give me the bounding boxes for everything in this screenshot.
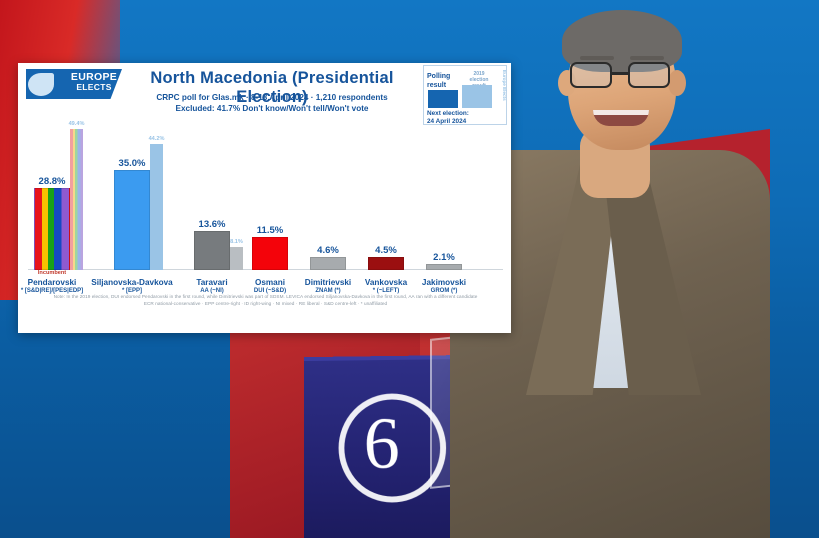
poll-infographic-card: EUROPE ELECTS North Macedonia (President… <box>18 63 511 333</box>
bar-osmani: 11.5%OsmaniDUI (~S&D) <box>252 237 288 270</box>
bar-group: 13.6%TaravariAA (~NI)8.1% <box>194 231 243 270</box>
speaker-mouth <box>593 110 649 126</box>
legend-poll-label: Polling result <box>427 73 461 91</box>
bar-dimitrievski: 4.6%DimitrievskiZNAM (*) <box>310 257 346 270</box>
legend-side-note: Europe Elects <box>502 70 507 101</box>
bar-group: 4.6%DimitrievskiZNAM (*) <box>310 257 346 270</box>
logo-swoosh-icon <box>28 73 54 96</box>
europe-elects-logo: EUROPE ELECTS <box>26 69 122 99</box>
glasses-icon <box>570 62 674 88</box>
logo-text: EUROPE ELECTS <box>66 72 122 92</box>
bar-chart-plot: 28.8%IncumbentPendarovski* [S&D|RE]/[PES… <box>28 115 503 310</box>
logo-text-line2: ELECTS <box>66 83 122 92</box>
glasses-bridge <box>612 72 628 75</box>
bar-value-label: 4.6% <box>317 245 339 256</box>
footnote-note: Note: In the 2019 election, DUI endorsed… <box>28 293 503 300</box>
bar-previous-taravari: 8.1% <box>230 247 243 270</box>
bar-previous-value-label: 44.2% <box>149 136 165 142</box>
podium-number: 6 <box>364 407 400 480</box>
bar-jakimovski: 2.1%JakimovskiGROM (*) <box>426 264 462 270</box>
bar-siljanovska-davkova: 35.0%Siljanovska-Davkova* [EPP] <box>114 170 150 270</box>
bar-previous-value-label: 49.4% <box>69 121 85 127</box>
poll-excluded-subtitle: Excluded: 41.7% Don't know/Won't tell/Wo… <box>122 104 422 113</box>
incumbent-label: Incumbent <box>38 270 66 276</box>
card-header: EUROPE ELECTS North Macedonia (President… <box>18 63 511 115</box>
speaker-brow-right <box>630 56 664 60</box>
bar-taravari: 13.6%TaravariAA (~NI) <box>194 231 230 270</box>
bar-value-label: 28.8% <box>39 176 66 187</box>
speaker-brow-left <box>580 56 614 60</box>
chart-footnotes: Note: In the 2019 election, DUI endorsed… <box>28 293 503 307</box>
glasses-lens-right <box>628 62 670 88</box>
glasses-lens-left <box>570 62 612 88</box>
bar-group: 11.5%OsmaniDUI (~S&D) <box>252 237 288 270</box>
bar-group: 2.1%JakimovskiGROM (*) <box>426 264 462 270</box>
bar-vankovska: 4.5%Vankovska* (~LEFT) <box>368 257 404 270</box>
bar-previous-pendarovski: 49.4% <box>70 129 83 270</box>
footnote-groups: ECR national-conservative · EPP centre-r… <box>28 300 503 307</box>
poll-source-subtitle: CRPC poll for Glas.mk · 8-13 April 2024 … <box>122 93 422 102</box>
candidate-name: Jakimovski <box>389 278 499 287</box>
bar-pendarovski: 28.8%IncumbentPendarovski* [S&D|RE]/[PES… <box>34 188 70 270</box>
bar-value-label: 4.5% <box>375 245 397 256</box>
bar-group: 28.8%IncumbentPendarovski* [S&D|RE]/[PES… <box>34 129 83 270</box>
bar-previous-value-label: 8.1% <box>230 239 243 245</box>
bar-group: 35.0%Siljanovska-Davkova* [EPP]44.2% <box>114 144 163 270</box>
bar-value-label: 13.6% <box>199 219 226 230</box>
legend-swatch-previous <box>462 85 492 108</box>
bar-value-label: 2.1% <box>433 252 455 263</box>
bar-value-label: 35.0% <box>119 158 146 169</box>
bar-value-label: 11.5% <box>257 225 283 236</box>
legend-swatch-poll <box>428 90 458 108</box>
candidate-label: JakimovskiGROM (*) <box>389 278 499 294</box>
bar-previous-siljanovska-davkova: 44.2% <box>150 144 163 270</box>
bar-group: 4.5%Vankovska* (~LEFT) <box>368 257 404 270</box>
